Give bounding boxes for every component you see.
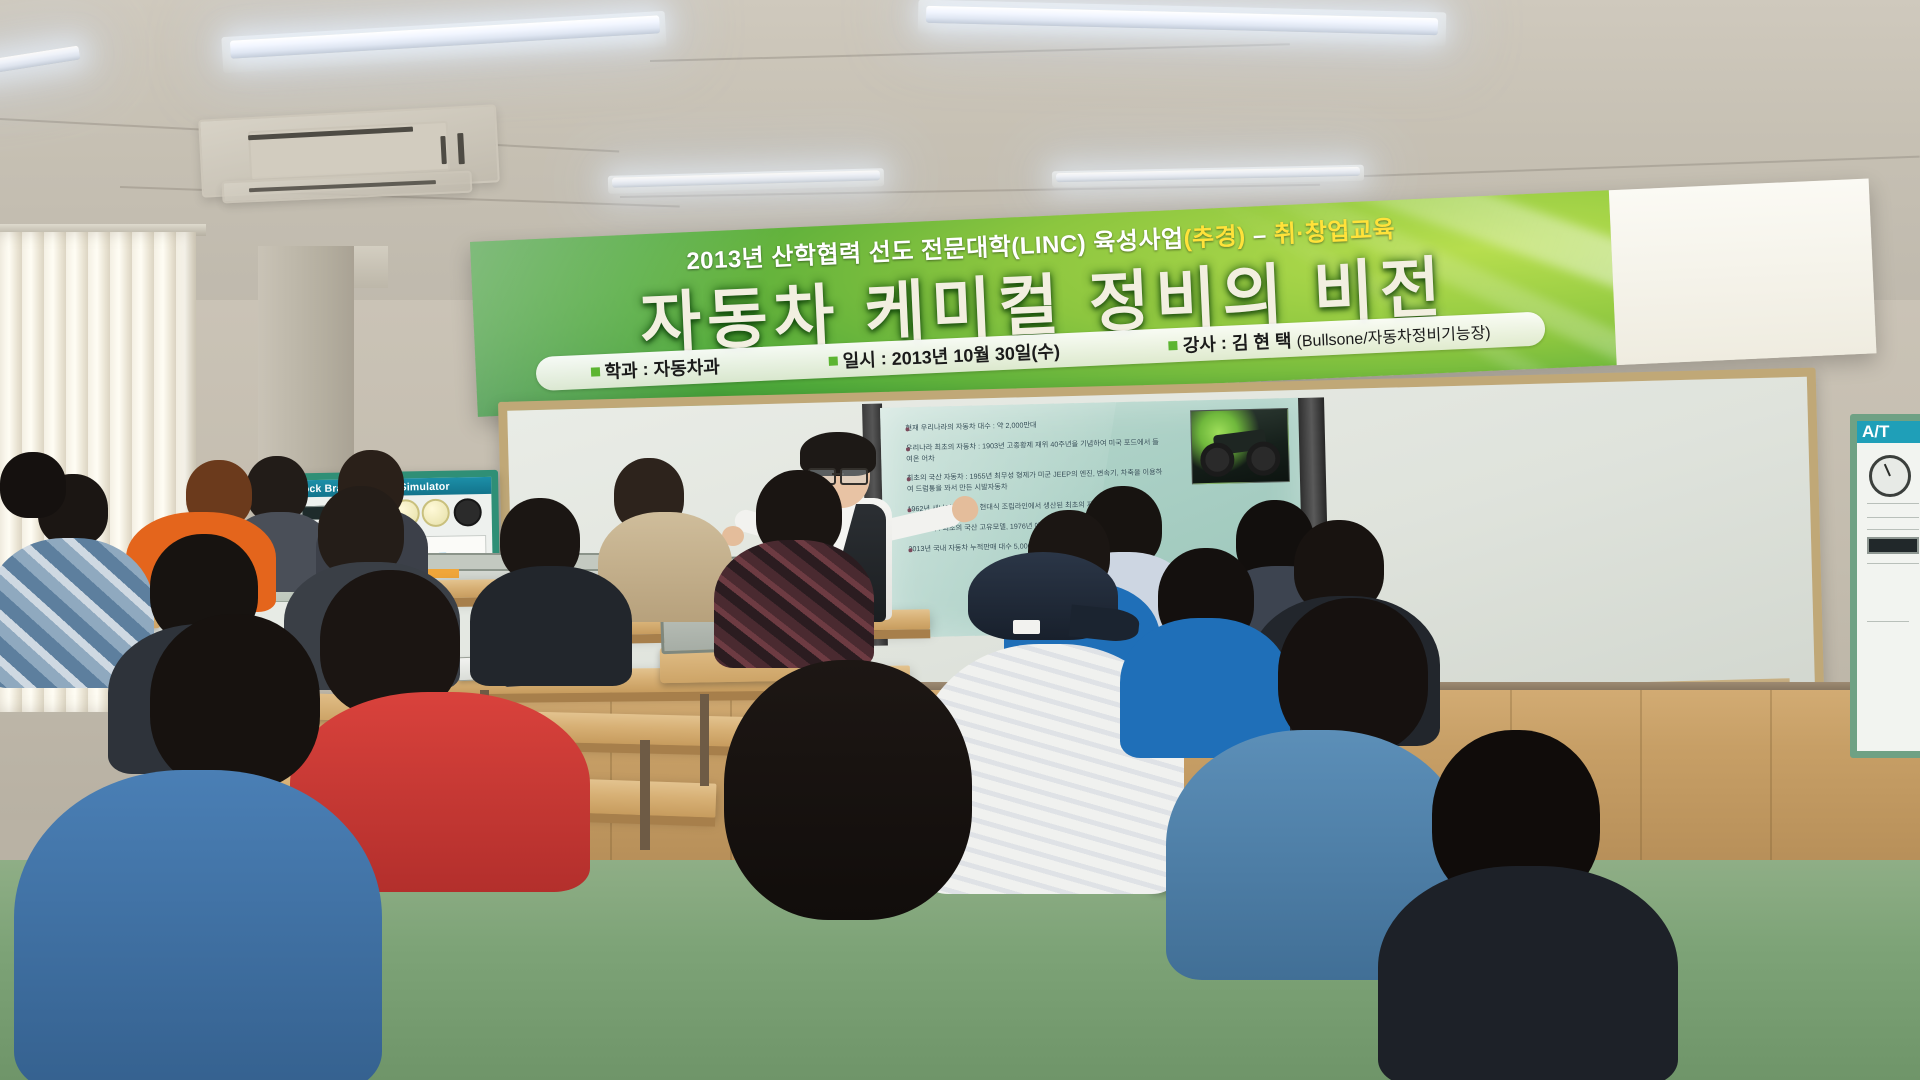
ceiling-light-3 <box>0 45 80 76</box>
student-head <box>150 614 320 790</box>
bullet-square-icon <box>1169 341 1178 350</box>
banner-info-department: 학과 : 자동차과 <box>590 353 720 385</box>
info-value: 자동차과 <box>653 353 720 382</box>
at-transmission-cabinet: A/T <box>1850 414 1920 758</box>
student-torso <box>470 566 632 686</box>
student-head-foreground <box>724 660 972 920</box>
cabinet-face: A/T <box>1857 421 1920 751</box>
cabinet-display <box>1867 537 1919 554</box>
cap-tag-icon <box>1013 620 1040 633</box>
info-separator: : <box>642 359 649 380</box>
bullet-square-icon <box>828 356 837 365</box>
student-torso <box>714 540 874 668</box>
classroom-photo-scene: 2013년 산학협력 선도 전문대학(LINC) 육성사업(추경) – 취·창업… <box>0 0 1920 1080</box>
info-separator: : <box>880 348 887 369</box>
banner-info-date: 일시 : 2013년 10월 30일(수) <box>828 337 1060 373</box>
info-label: 강사 <box>1182 330 1216 357</box>
cabinet-gauge-icon <box>1869 455 1911 497</box>
info-label: 학과 <box>604 357 638 384</box>
info-suffix: (Bullsone/자동차정비기능장) <box>1296 319 1491 352</box>
bullet-square-icon <box>590 367 599 376</box>
student-torso-blue <box>14 770 382 1080</box>
desk-leg <box>640 740 650 850</box>
baseball-cap <box>968 552 1118 674</box>
info-label: 일시 <box>842 346 876 373</box>
cabinet-label: A/T <box>1857 421 1920 443</box>
banner-white-panel: 힘을 기르자 SEOYEONG 1978 UNIVERSITY 서영 서영대학교 <box>1609 178 1877 365</box>
slide-motorcycle-image <box>1190 408 1290 484</box>
info-value: 김 현 택 <box>1231 327 1292 356</box>
desk-leg <box>700 694 709 786</box>
student-torso <box>1378 866 1678 1080</box>
info-value: 2013년 10월 30일(수) <box>891 337 1060 371</box>
info-separator: : <box>1220 332 1227 353</box>
student-head <box>0 452 66 518</box>
